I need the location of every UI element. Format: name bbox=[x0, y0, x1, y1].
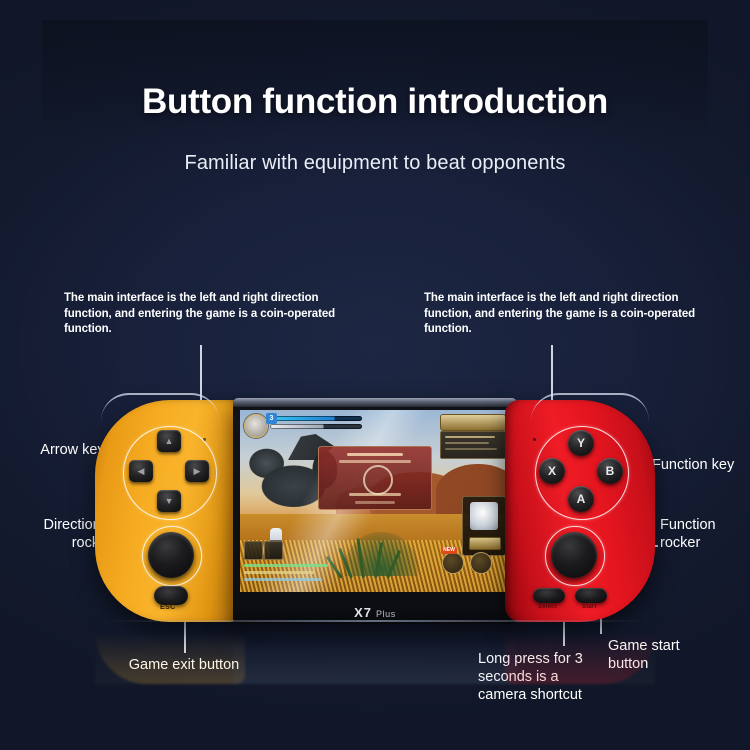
dpad-left-button[interactable]: ◀ bbox=[129, 460, 153, 482]
hud-chat-log bbox=[244, 564, 336, 586]
dpad-down-button[interactable]: ▼ bbox=[157, 490, 181, 512]
hud-health-bar bbox=[270, 416, 362, 421]
device-brand-name: X7 bbox=[354, 605, 372, 620]
screen-bezel: 3 NE bbox=[233, 398, 517, 624]
dpad-down-icon: ▼ bbox=[165, 497, 174, 506]
hud-level-badge: 3 bbox=[266, 413, 277, 424]
annotation-top-left: The main interface is the left and right… bbox=[64, 291, 336, 338]
device-brand: X7Plus bbox=[233, 605, 517, 620]
quest-text-line bbox=[445, 436, 495, 438]
right-grip: Y X B A Select Start bbox=[505, 400, 655, 622]
start-button[interactable] bbox=[575, 588, 607, 603]
dialog-text-line bbox=[347, 453, 403, 456]
select-button-label: Select bbox=[538, 604, 557, 610]
hud-experience-bar bbox=[270, 424, 362, 429]
dialog-text-line bbox=[339, 460, 411, 463]
handheld-console: ▲ ◀ ▶ ▼ ESC bbox=[95, 400, 655, 622]
infographic-canvas: Button function introduction Familiar wi… bbox=[0, 0, 750, 750]
dpad-up-icon: ▲ bbox=[165, 437, 174, 446]
button-a[interactable]: A bbox=[568, 486, 594, 512]
esc-button[interactable] bbox=[154, 586, 188, 605]
dpad-up-button[interactable]: ▲ bbox=[157, 430, 181, 452]
device-reflection bbox=[95, 622, 655, 684]
reflection-right-grip bbox=[505, 632, 655, 684]
hud-quest-panel bbox=[440, 431, 506, 459]
label-function-key: Function key bbox=[652, 456, 748, 474]
hud-item-glove-icon bbox=[470, 502, 498, 530]
start-button-label: Start bbox=[582, 604, 597, 610]
reflection-screen bbox=[233, 638, 517, 684]
page-title: Button function introduction bbox=[0, 82, 750, 122]
left-grip: ▲ ◀ ▶ ▼ ESC bbox=[95, 400, 245, 622]
quest-text-line bbox=[445, 442, 489, 444]
chat-line bbox=[244, 578, 322, 581]
annotation-top-right: The main interface is the left and right… bbox=[424, 291, 696, 338]
hud-item-equip-button bbox=[469, 537, 501, 550]
reflection-left-grip bbox=[95, 632, 245, 684]
button-b[interactable]: B bbox=[597, 458, 623, 484]
right-shoulder-highlight bbox=[531, 393, 649, 421]
chat-line bbox=[244, 571, 314, 574]
dpad-right-button[interactable]: ▶ bbox=[185, 460, 209, 482]
hud-action-trophy-button: NEW bbox=[442, 552, 464, 574]
dpad-right-icon: ▶ bbox=[194, 467, 201, 476]
device-brand-suffix: Plus bbox=[376, 609, 396, 619]
chat-line bbox=[244, 564, 328, 567]
game-screen: 3 NE bbox=[240, 410, 510, 592]
screen-dialog-panel bbox=[318, 446, 432, 510]
dialog-coin-icon bbox=[363, 465, 393, 495]
esc-button-label: ESC bbox=[160, 604, 176, 611]
leader-line-top-left bbox=[200, 345, 202, 402]
dialog-text-line bbox=[355, 501, 395, 504]
button-x[interactable]: X bbox=[539, 458, 565, 484]
directional-rocker-stick[interactable] bbox=[148, 532, 194, 578]
dpad-left-icon: ◀ bbox=[138, 467, 145, 476]
hud-item-card bbox=[462, 496, 506, 556]
label-function-rocker: Function rocker bbox=[660, 516, 746, 552]
left-shoulder-highlight bbox=[101, 393, 219, 421]
new-badge: NEW bbox=[441, 547, 457, 554]
page-subtitle: Familiar with equipment to beat opponent… bbox=[0, 152, 750, 175]
select-button[interactable] bbox=[533, 588, 565, 603]
bezel-top-trim bbox=[233, 398, 517, 407]
right-indicator-led bbox=[533, 438, 536, 441]
hud-action-bolt-button bbox=[470, 552, 492, 574]
dialog-text-line bbox=[349, 493, 401, 496]
hud-quest-banner bbox=[440, 414, 506, 431]
button-y[interactable]: Y bbox=[568, 430, 594, 456]
quest-text-line bbox=[445, 448, 497, 450]
hud-inventory-slot bbox=[244, 541, 263, 560]
hud-inventory-slot bbox=[264, 541, 283, 560]
hud-portrait-avatar bbox=[244, 414, 268, 438]
function-rocker-stick[interactable] bbox=[551, 532, 597, 578]
